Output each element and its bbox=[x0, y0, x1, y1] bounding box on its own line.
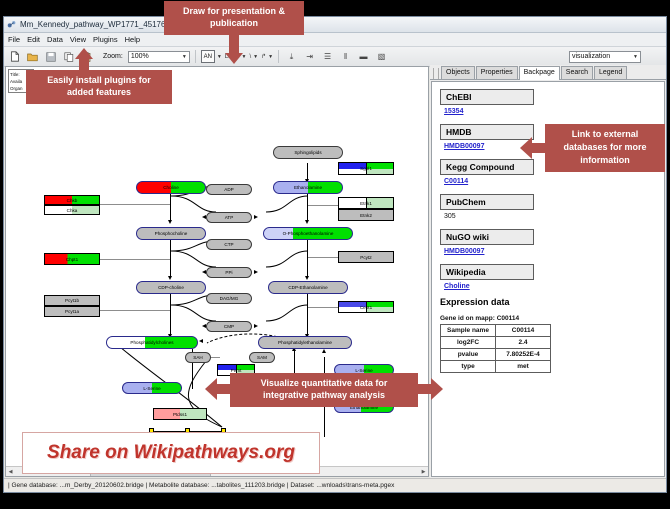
node-cdp-ethanolamine[interactable]: CDP-Ethanolamine bbox=[268, 281, 348, 294]
arrow-left bbox=[202, 270, 206, 274]
zoom-label: Zoom: bbox=[103, 53, 123, 60]
window-title: Mm_Kennedy_pathway_WP1771_45176.gpml bbox=[20, 20, 185, 29]
db-link-chebi[interactable]: 15354 bbox=[444, 108, 664, 115]
menu-bar[interactable]: File Edit Data View Plugins Help bbox=[4, 33, 666, 47]
table-row: pvalue 7.80252E-4 bbox=[441, 349, 551, 361]
node-pcyt2[interactable]: Pcyt2 bbox=[338, 251, 394, 263]
expr-key-sample-name: Sample name bbox=[441, 325, 496, 337]
node-adp[interactable]: ADP bbox=[206, 184, 252, 195]
expr-val-pvalue: 7.80252E-4 bbox=[496, 349, 551, 361]
tab-backpage[interactable]: Backpage bbox=[519, 66, 560, 80]
menu-item-edit[interactable]: Edit bbox=[27, 35, 40, 44]
arrow-right bbox=[254, 324, 258, 328]
align-icon[interactable]: ⤓ bbox=[284, 49, 299, 64]
chevron-down-icon[interactable]: ▼ bbox=[268, 54, 273, 60]
stack-icon[interactable]: ☰ bbox=[320, 49, 335, 64]
node-sphingolipids[interactable]: Sphingolipids bbox=[273, 146, 343, 159]
callout-link-stem bbox=[532, 143, 546, 153]
node-phosphatidylethanolamine[interactable]: Phosphatidylethanolamine bbox=[258, 336, 352, 349]
side-tab-row[interactable]: Objects Properties Backpage Search Legen… bbox=[430, 65, 666, 80]
node-chpt1[interactable]: Chpt1 bbox=[44, 253, 100, 265]
node-o-phosphoethanolamine[interactable]: O-Phosphoethanolamine bbox=[263, 227, 353, 240]
arrow-up bbox=[322, 349, 326, 353]
callout-link-pointer bbox=[520, 137, 532, 159]
db-header-wikipedia: Wikipedia bbox=[440, 264, 534, 280]
db-link-nugo-wiki[interactable]: HMDB00097 bbox=[444, 248, 664, 255]
node-sah[interactable]: SAH bbox=[185, 352, 211, 363]
db-header-chebi: ChEBI bbox=[440, 89, 534, 105]
node-pcyt1a[interactable]: Pcyt1a bbox=[44, 306, 100, 317]
callout-draw: Draw for presentation & publication bbox=[164, 1, 304, 35]
chevron-down-icon[interactable]: ▼ bbox=[253, 54, 258, 60]
node-atp[interactable]: ATP bbox=[206, 212, 252, 223]
menu-item-file[interactable]: File bbox=[8, 35, 20, 44]
node-l-serine-left[interactable]: L-Serine bbox=[122, 382, 182, 394]
node-cmp[interactable]: CMP bbox=[206, 321, 252, 332]
callout-visualize-stem-left bbox=[217, 384, 231, 394]
edge-pcyt1-link bbox=[88, 310, 170, 311]
chevron-down-icon[interactable]: ▼ bbox=[217, 54, 222, 60]
pathvisio-window: Mm_Kennedy_pathway_WP1771_45176.gpml Fil… bbox=[3, 16, 667, 493]
order-icon[interactable]: ▬ bbox=[356, 49, 371, 64]
save-icon[interactable] bbox=[43, 49, 58, 64]
status-bar: | Gene database: ...m_Derby_20120602.bri… bbox=[4, 478, 666, 492]
arrow-right bbox=[254, 270, 258, 274]
db-header-kegg: Kegg Compound bbox=[440, 159, 534, 175]
expr-key-type: type bbox=[441, 361, 496, 373]
expr-val-type: met bbox=[496, 361, 551, 373]
pathvisio-icon bbox=[7, 20, 16, 29]
toolbar-separator bbox=[278, 50, 279, 63]
callout-link: Link to external databases for more info… bbox=[545, 124, 665, 172]
callout-plugins-pointer bbox=[75, 48, 93, 59]
copy-icon[interactable] bbox=[61, 49, 76, 64]
db-header-pubchem: PubChem bbox=[440, 194, 534, 210]
status-text: | Gene database: ...m_Derby_20120602.bri… bbox=[8, 482, 394, 489]
tab-properties[interactable]: Properties bbox=[476, 66, 518, 79]
title-bar: Mm_Kennedy_pathway_WP1771_45176.gpml bbox=[4, 17, 666, 33]
node-phosphocholine[interactable]: Phosphocholine bbox=[136, 227, 206, 240]
gene-id-line: Gene id on mapp: C00114 bbox=[440, 315, 664, 322]
table-row: Sample name C00114 bbox=[441, 325, 551, 337]
arrow-left bbox=[199, 339, 203, 343]
expression-data-heading: Expression data bbox=[440, 297, 664, 307]
node-sgpl1[interactable]: Sgpl1 bbox=[338, 162, 394, 175]
callout-visualize-pointer-right bbox=[431, 378, 443, 400]
datanode-tool[interactable]: AN ▼ bbox=[201, 50, 222, 63]
bring-front-icon[interactable]: ▧ bbox=[374, 49, 389, 64]
tab-search[interactable]: Search bbox=[561, 66, 593, 79]
node-ptdss1[interactable]: Ptdss1 bbox=[153, 408, 207, 420]
menu-item-view[interactable]: View bbox=[70, 35, 86, 44]
node-ethanolamine-top[interactable]: Ethanolamine bbox=[273, 181, 343, 194]
db-link-kegg[interactable]: C00114 bbox=[444, 178, 664, 185]
visualization-select[interactable]: visualization ▼ bbox=[569, 51, 641, 63]
db-value-pubchem: 305 bbox=[444, 213, 664, 220]
zoom-select[interactable]: 100% ▼ bbox=[128, 51, 190, 63]
expr-key-pvalue: pvalue bbox=[441, 349, 496, 361]
pathway-canvas[interactable]: Title: Availa Organ bbox=[5, 66, 429, 477]
receptor-tool[interactable]: ↱ ▼ bbox=[261, 53, 273, 60]
tab-drag-grip[interactable] bbox=[433, 68, 439, 79]
scroll-right-icon[interactable]: ▶ bbox=[419, 467, 428, 476]
callout-draw-pointer bbox=[225, 53, 243, 64]
arrow-right bbox=[254, 215, 258, 219]
node-phosphatidylcholines[interactable]: Phosphatidylcholines bbox=[106, 336, 198, 349]
node-cept1[interactable]: Cept1 bbox=[338, 301, 394, 313]
scroll-left-icon[interactable]: ◀ bbox=[6, 467, 15, 476]
node-etnk2[interactable]: Etnk2 bbox=[338, 209, 394, 221]
new-file-icon[interactable] bbox=[7, 49, 22, 64]
edge-chpt1-link bbox=[88, 259, 170, 260]
table-row: type met bbox=[441, 361, 551, 373]
line-icon: \ bbox=[249, 54, 251, 60]
toolbar-separator bbox=[195, 50, 196, 63]
menu-item-plugins[interactable]: Plugins bbox=[93, 35, 118, 44]
callout-visualize-pointer-left bbox=[205, 378, 217, 400]
expression-table: Sample name C00114 log2FC 2.4 pvalue 7.8… bbox=[440, 324, 551, 373]
node-ppi[interactable]: PPi bbox=[206, 267, 252, 278]
tab-objects[interactable]: Objects bbox=[441, 66, 475, 79]
callout-share: Share on Wikipathways.org bbox=[22, 432, 320, 474]
edge-chk-link bbox=[88, 204, 170, 205]
callout-visualize: Visualize quantitative data for integrat… bbox=[230, 373, 418, 407]
node-cdp-choline[interactable]: CDP-choline bbox=[136, 281, 206, 294]
share-text: Share on Wikipathways.org bbox=[47, 442, 295, 464]
line-tool[interactable]: \ ▼ bbox=[249, 54, 258, 60]
menu-item-help[interactable]: Help bbox=[125, 35, 140, 44]
node-pcyt1b[interactable]: Pcyt1b bbox=[44, 295, 100, 306]
tab-legend[interactable]: Legend bbox=[594, 66, 627, 79]
node-dagmg[interactable]: DAG/MG bbox=[206, 293, 252, 304]
node-chkb[interactable]: Chkb bbox=[44, 195, 100, 205]
expr-val-log2fc: 2.4 bbox=[496, 337, 551, 349]
menu-item-data[interactable]: Data bbox=[47, 35, 63, 44]
open-folder-icon[interactable] bbox=[25, 49, 40, 64]
arrow-left bbox=[202, 324, 206, 328]
node-etnk1[interactable]: Etnk1 bbox=[338, 197, 394, 209]
datanode-icon: AN bbox=[201, 50, 215, 63]
node-sam[interactable]: SAM bbox=[249, 352, 275, 363]
chevron-down-icon: ▼ bbox=[633, 54, 638, 60]
arrow-left bbox=[202, 215, 206, 219]
db-link-wikipedia[interactable]: Choline bbox=[444, 283, 664, 290]
expr-val-sample-name: C00114 bbox=[496, 325, 551, 337]
node-ctp[interactable]: CTP bbox=[206, 239, 252, 250]
zoom-value: 100% bbox=[131, 53, 149, 60]
node-chka[interactable]: Chka bbox=[44, 205, 100, 215]
expr-key-log2fc: log2FC bbox=[441, 337, 496, 349]
table-row: log2FC 2.4 bbox=[441, 337, 551, 349]
callout-visualize-stem-right bbox=[417, 384, 431, 394]
toolbar[interactable]: Zoom: 100% ▼ AN ▼ Label ▼ \ ▼ ↱ ▼ ⤓ ⇥ ☰ … bbox=[4, 47, 666, 67]
group-icon[interactable]: ‖ bbox=[338, 49, 353, 64]
chevron-down-icon: ▼ bbox=[182, 54, 187, 60]
db-header-nugo-wiki: NuGO wiki bbox=[440, 229, 534, 245]
callout-plugins: Easily install plugins for added feature… bbox=[26, 70, 172, 104]
visualization-value: visualization bbox=[572, 53, 610, 60]
distribute-icon[interactable]: ⇥ bbox=[302, 49, 317, 64]
node-choline-top[interactable]: Choline bbox=[136, 181, 206, 194]
anchor-icon: ↱ bbox=[261, 53, 266, 60]
callout-draw-stem bbox=[229, 35, 239, 54]
